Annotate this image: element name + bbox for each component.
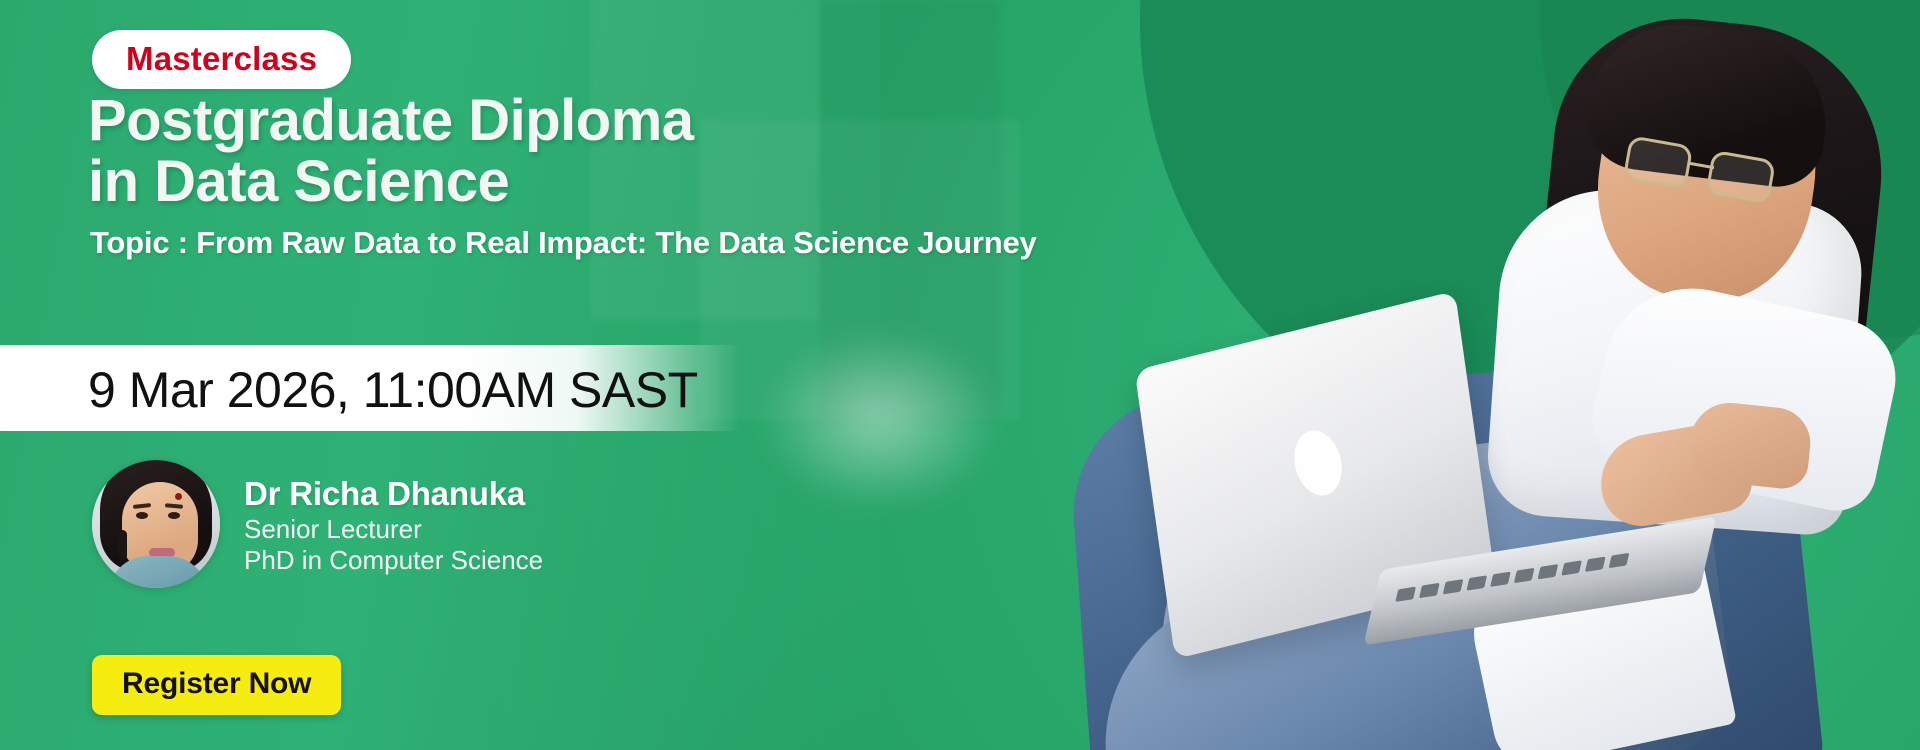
masterclass-badge-label: Masterclass — [126, 40, 317, 77]
page-title-line-2: in Data Science — [88, 151, 694, 212]
page-title: Postgraduate Diploma in Data Science — [88, 90, 694, 213]
topic-line: Topic : From Raw Data to Real Impact: Th… — [90, 225, 1037, 261]
speaker-qualification: PhD in Computer Science — [244, 545, 543, 575]
speaker-block: Dr Richa Dhanuka Senior Lecturer PhD in … — [92, 460, 543, 588]
masterclass-promo-banner: Masterclass Postgraduate Diploma in Data… — [0, 0, 1920, 750]
register-now-button[interactable]: Register Now — [92, 655, 341, 715]
page-title-line-1: Postgraduate Diploma — [88, 88, 694, 153]
speaker-name: Dr Richa Dhanuka — [244, 473, 543, 514]
event-datetime: 9 Mar 2026, 11:00AM SAST — [88, 361, 698, 419]
banner-content: Masterclass Postgraduate Diploma in Data… — [0, 0, 1100, 750]
speaker-details: Dr Richa Dhanuka Senior Lecturer PhD in … — [244, 473, 543, 575]
register-now-label: Register Now — [122, 667, 311, 700]
avatar — [92, 460, 220, 588]
masterclass-badge: Masterclass — [92, 30, 351, 89]
speaker-role: Senior Lecturer — [244, 514, 543, 544]
hero-photo-woman-with-laptop — [1040, 0, 1920, 750]
